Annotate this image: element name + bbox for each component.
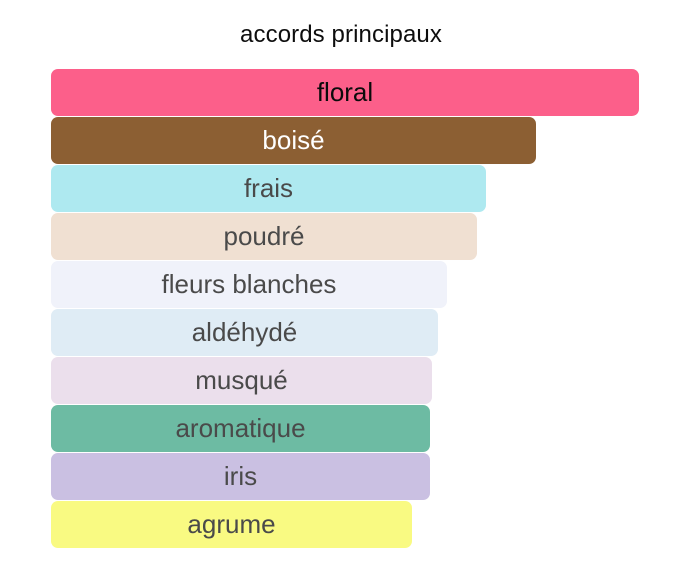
bar-row[interactable]: fleurs blanches [51, 261, 682, 309]
bar-label: floral [51, 69, 639, 116]
bars-container: floralboiséfraispoudréfleurs blanchesald… [51, 69, 682, 559]
bar-row[interactable]: poudré [51, 213, 682, 261]
bar-row[interactable]: aromatique [51, 405, 682, 453]
bar-label: poudré [51, 213, 477, 260]
chart-title: accords principaux [0, 21, 682, 49]
bar-label: musqué [51, 357, 432, 404]
horizontal-bar-chart: accords principaux floralboiséfraispoudr… [0, 0, 682, 575]
bar-label: agrume [51, 501, 412, 548]
bar-row[interactable]: frais [51, 165, 682, 213]
bar-label: frais [51, 165, 486, 212]
bar-row[interactable]: iris [51, 453, 682, 501]
bar-row[interactable]: agrume [51, 501, 682, 549]
bar-label: aldéhydé [51, 309, 438, 356]
bar-label: aromatique [51, 405, 430, 452]
bar-label: iris [51, 453, 430, 500]
bar-label: boisé [51, 117, 536, 164]
bar-row[interactable]: boisé [51, 117, 682, 165]
bar-row[interactable]: musqué [51, 357, 682, 405]
bar-row[interactable]: floral [51, 69, 682, 117]
bar-label: fleurs blanches [51, 261, 447, 308]
bar-row[interactable]: aldéhydé [51, 309, 682, 357]
